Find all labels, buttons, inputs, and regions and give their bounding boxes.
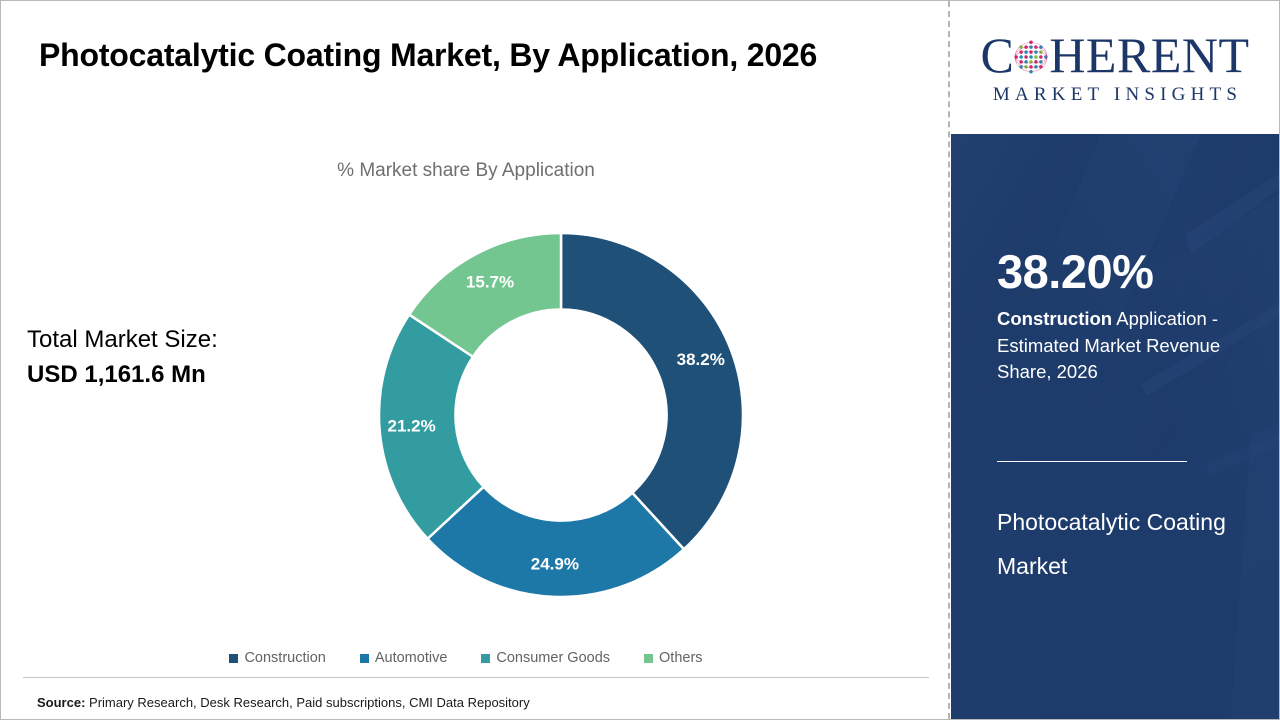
logo-word-rest: HERENT bbox=[1049, 30, 1249, 80]
logo-wordmark: C HERENT bbox=[980, 29, 1249, 81]
legend-item[interactable]: Others bbox=[644, 650, 703, 666]
legend-swatch-icon bbox=[229, 654, 238, 663]
stat-value: 38.20% bbox=[997, 244, 1153, 299]
chart-legend: ConstructionAutomotiveConsumer GoodsOthe… bbox=[1, 650, 931, 666]
legend-swatch-icon bbox=[481, 654, 490, 663]
globe-dot bbox=[1030, 55, 1034, 59]
globe-dot bbox=[1030, 70, 1034, 74]
globe-dot bbox=[1035, 55, 1039, 59]
legend-label: Others bbox=[659, 650, 703, 666]
logo-letter-c: C bbox=[980, 30, 1014, 80]
logo-subtitle: MARKET INSIGHTS bbox=[988, 84, 1242, 106]
source-label: Source: bbox=[37, 695, 85, 710]
footer-divider bbox=[23, 677, 929, 678]
panel-dashed-divider bbox=[948, 1, 950, 719]
total-market-label: Total Market Size: bbox=[27, 323, 218, 358]
globe-dot bbox=[1025, 60, 1029, 64]
legend-label: Automotive bbox=[375, 650, 448, 666]
legend-swatch-icon bbox=[360, 654, 369, 663]
left-panel: Photocatalytic Coating Market, By Applic… bbox=[1, 1, 949, 719]
globe-dot bbox=[1035, 50, 1039, 54]
infographic-root: Photocatalytic Coating Market, By Applic… bbox=[0, 0, 1280, 720]
legend-label: Construction bbox=[244, 650, 325, 666]
donut-slice-label: 21.2% bbox=[388, 417, 436, 436]
stat-highlight: Construction bbox=[997, 308, 1112, 329]
globe-dot bbox=[1020, 55, 1024, 59]
donut-slice-label: 15.7% bbox=[466, 272, 514, 291]
chart-subtitle: % Market share By Application bbox=[1, 160, 931, 182]
globe-dot bbox=[1039, 55, 1043, 59]
legend-item[interactable]: Construction bbox=[229, 650, 325, 666]
legend-swatch-icon bbox=[644, 654, 653, 663]
page-title: Photocatalytic Coating Market, By Applic… bbox=[39, 31, 899, 81]
total-market-size: Total Market Size: USD 1,161.6 Mn bbox=[27, 323, 218, 393]
globe-dot bbox=[1035, 60, 1039, 64]
right-panel: C HERENT MARKET INSIGHTS bbox=[951, 1, 1279, 719]
globe-dot bbox=[1025, 55, 1029, 59]
market-name: Photocatalytic Coating Market bbox=[997, 501, 1267, 588]
globe-dot bbox=[1030, 65, 1034, 69]
globe-dot bbox=[1025, 50, 1029, 54]
stat-description: Construction Application - Estimated Mar… bbox=[997, 306, 1261, 386]
legend-item[interactable]: Consumer Goods bbox=[481, 650, 610, 666]
donut-slice-label: 24.9% bbox=[531, 554, 579, 573]
legend-item[interactable]: Automotive bbox=[360, 650, 448, 666]
source-note: Source: Primary Research, Desk Research,… bbox=[37, 695, 530, 710]
stat-panel-divider bbox=[997, 461, 1187, 462]
legend-label: Consumer Goods bbox=[496, 650, 610, 666]
donut-chart-svg: 38.2%24.9%21.2%15.7% bbox=[375, 229, 747, 601]
donut-slices bbox=[379, 233, 743, 597]
donut-slice bbox=[561, 233, 743, 549]
globe-dot bbox=[1030, 45, 1034, 49]
panel-background-texture bbox=[951, 134, 1279, 719]
donut-chart: 38.2%24.9%21.2%15.7% bbox=[375, 229, 747, 601]
brand-logo: C HERENT MARKET INSIGHTS bbox=[951, 1, 1279, 134]
stat-panel: 38.20% Construction Application - Estima… bbox=[951, 134, 1279, 719]
total-market-value: USD 1,161.6 Mn bbox=[27, 358, 218, 393]
source-text: Primary Research, Desk Research, Paid su… bbox=[85, 695, 529, 710]
donut-slice-label: 38.2% bbox=[677, 350, 725, 369]
globe-icon bbox=[1014, 40, 1048, 74]
